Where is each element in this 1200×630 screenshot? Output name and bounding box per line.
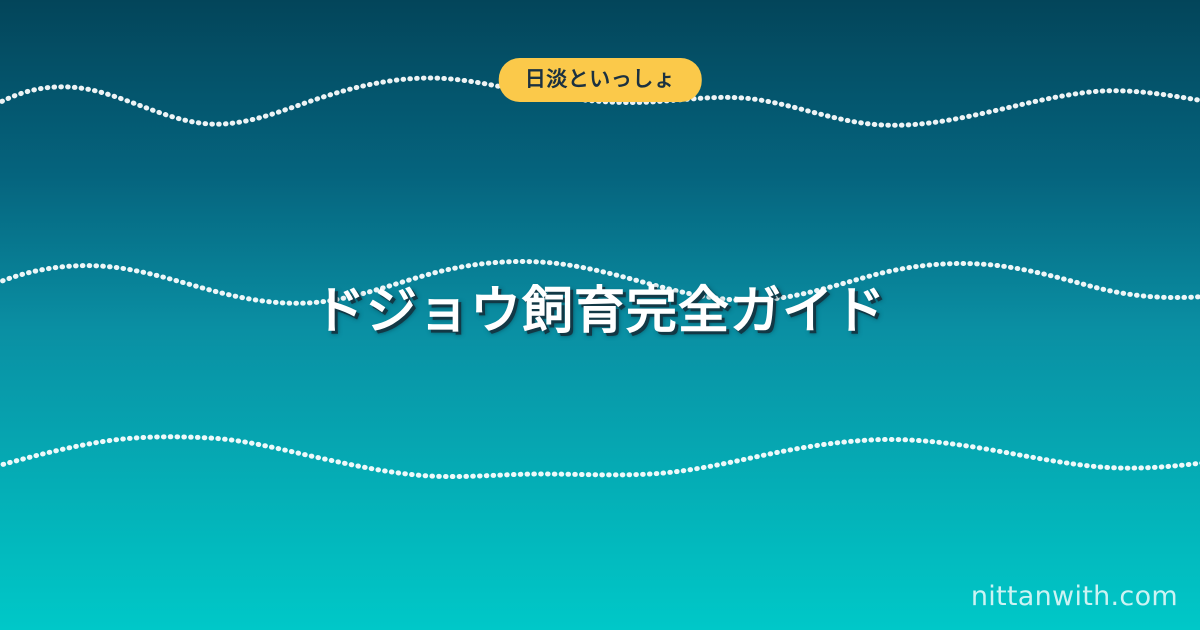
page-title: ドジョウ飼育完全ガイド: [314, 280, 886, 350]
category-badge: 日淡といっしょ: [499, 58, 702, 102]
ogp-card: 日淡といっしょ ドジョウ飼育完全ガイド nittanwith.com: [0, 0, 1200, 630]
site-domain-label: nittanwith.com: [971, 583, 1178, 610]
